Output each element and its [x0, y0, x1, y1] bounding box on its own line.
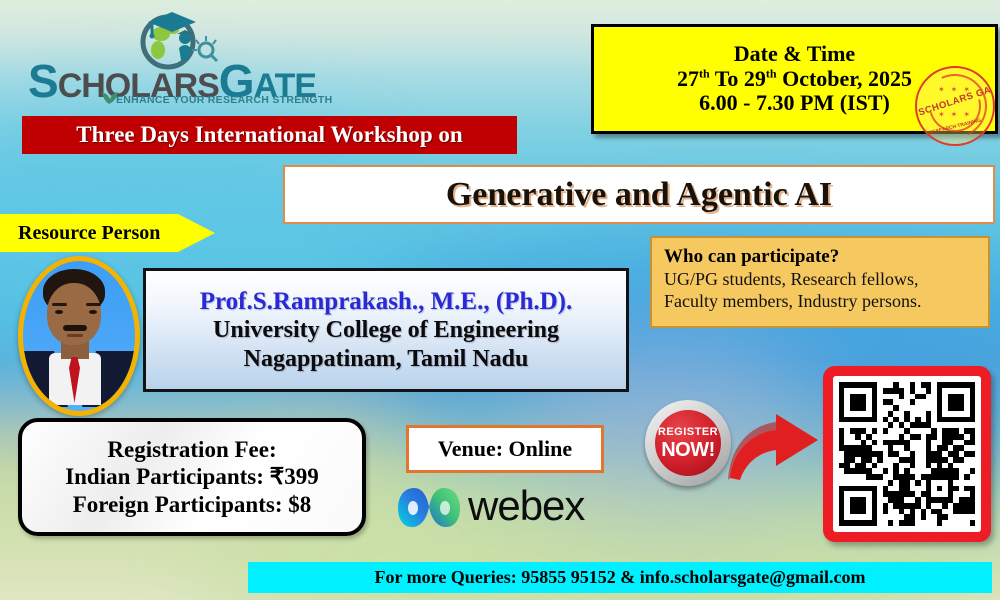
registration-fee-box: Registration Fee: Indian Participants: ₹…: [18, 418, 366, 536]
venue-text: Venue: Online: [438, 436, 572, 462]
date-middle: To 29: [710, 66, 766, 91]
fee-heading: Registration Fee:: [107, 436, 276, 464]
register-label-top: REGISTER: [658, 427, 718, 438]
date-time-date: 27th To 29th October, 2025: [677, 67, 912, 92]
logo-text-s: S: [28, 55, 58, 107]
qr-grid: [839, 382, 975, 526]
workshop-poster: SCHOLARSGATE ENHANCE YOUR RESEARCH STREN…: [0, 0, 1000, 600]
logo-tagline: ENHANCE YOUR RESEARCH STRENGTH: [116, 94, 333, 106]
resource-person-label: Resource Person: [18, 222, 160, 245]
participate-heading: Who can participate?: [664, 246, 978, 268]
webex-infinity-icon: [396, 484, 462, 530]
venue-box: Venue: Online: [406, 425, 604, 473]
webex-logo: webex: [396, 484, 616, 532]
register-now-inner[interactable]: REGISTER NOW!: [655, 410, 721, 476]
register-label-bottom: NOW!: [661, 440, 715, 460]
date-end-suffix: th: [766, 66, 777, 80]
resource-person-tag: Resource Person: [0, 214, 215, 252]
speaker-info-box: Prof.S.Ramprakash., M.E., (Ph.D). Univer…: [143, 268, 629, 392]
who-can-participate-box: Who can participate? UG/PG students, Res…: [650, 236, 990, 328]
workshop-banner-text: Three Days International Workshop on: [76, 122, 462, 148]
scholarsgate-logo: SCHOLARSGATE ENHANCE YOUR RESEARCH STREN…: [28, 6, 308, 111]
participate-line1: UG/PG students, Research fellows,: [664, 269, 978, 291]
workshop-banner: Three Days International Workshop on: [22, 116, 517, 154]
speaker-affiliation-line2: Nagappatinam, Tamil Nadu: [244, 345, 529, 373]
date-time-time: 6.00 - 7.30 PM (IST): [699, 91, 890, 116]
qr-inner: [833, 376, 981, 532]
speaker-name: Prof.S.Ramprakash., M.E., (Ph.D).: [200, 287, 572, 317]
date-time-heading: Date & Time: [734, 42, 855, 67]
register-now-button[interactable]: REGISTER NOW!: [645, 400, 731, 486]
webex-wordmark: webex: [468, 482, 584, 530]
date-month-year: October, 2025: [777, 66, 912, 91]
date-start-suffix: th: [699, 66, 710, 80]
fee-foreign: Foreign Participants: $8: [73, 491, 312, 519]
speaker-avatar: [18, 256, 140, 416]
workshop-title-text: Generative and Agentic AI: [446, 176, 832, 214]
registration-qr-code[interactable]: [823, 366, 991, 542]
fee-indian: Indian Participants: ₹399: [65, 463, 319, 491]
speaker-affiliation-line1: University College of Engineering: [213, 316, 559, 344]
curved-arrow-icon: [726, 400, 826, 486]
participate-line2: Faculty members, Industry persons.: [664, 291, 978, 313]
date-start: 27: [677, 66, 699, 91]
scholars-gate-seal-stamp: ✶ ✶ ✶ SCHOLARS GATE ✶ ✶ ✶ RESEARCH TRAIN…: [915, 66, 995, 146]
workshop-title-box: Generative and Agentic AI: [283, 165, 995, 224]
contact-bar: For more Queries: 95855 95152 & info.sch…: [248, 562, 992, 593]
contact-text: For more Queries: 95855 95152 & info.sch…: [375, 567, 866, 588]
